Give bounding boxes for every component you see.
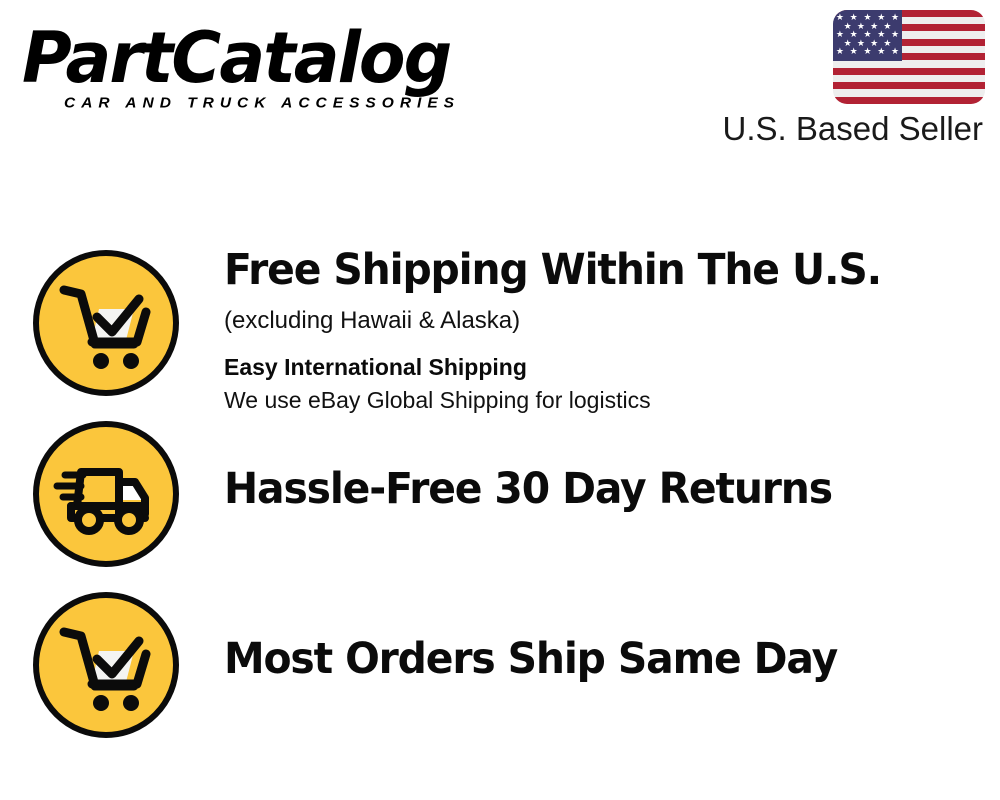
us-flag-icon: ★★★★★ ★★★★ ★★★★★ ★★★★ ★★★★★: [833, 10, 985, 104]
benefit-row-returns: Hassle-Free 30 Day Returns: [0, 420, 1000, 592]
page-header: PartCatalog CAR AND TRUCK ACCESSORIES ★★…: [0, 0, 1000, 175]
us-based-seller-block: ★★★★★ ★★★★ ★★★★★ ★★★★ ★★★★★ U.S. Based S…: [685, 10, 985, 148]
benefit-headline: Hassle-Free 30 Day Returns: [224, 465, 961, 514]
benefit-text-block: Most Orders Ship Same Day: [224, 592, 1000, 684]
benefit-row-free-shipping: Free Shipping Within The U.S. (excluding…: [0, 232, 1000, 420]
benefit-text-block: Hassle-Free 30 Day Returns: [224, 420, 1000, 514]
benefit-note: (excluding Hawaii & Alaska): [224, 305, 1000, 336]
benefit-icon-wrap: [0, 232, 224, 396]
us-based-seller-label: U.S. Based Seller: [685, 110, 985, 148]
flag-canton: ★★★★★ ★★★★ ★★★★★ ★★★★ ★★★★★: [833, 10, 902, 61]
benefit-row-same-day-ship: Most Orders Ship Same Day: [0, 592, 1000, 762]
benefit-icon-wrap: [0, 592, 224, 738]
shopping-cart-check-icon: [33, 592, 179, 738]
delivery-truck-icon: [33, 421, 179, 567]
brand-wordmark: PartCatalog: [22, 22, 478, 94]
brand-logo: PartCatalog CAR AND TRUCK ACCESSORIES: [22, 22, 492, 113]
benefit-text-block: Free Shipping Within The U.S. (excluding…: [224, 232, 1000, 415]
shopping-cart-check-icon: [33, 250, 179, 396]
benefit-headline: Most Orders Ship Same Day: [224, 635, 961, 684]
benefit-icon-wrap: [0, 420, 224, 567]
benefit-headline: Free Shipping Within The U.S.: [224, 246, 961, 295]
benefits-list: Free Shipping Within The U.S. (excluding…: [0, 232, 1000, 762]
benefit-sub-heading: Easy International Shipping: [224, 352, 1000, 382]
brand-tagline: CAR AND TRUCK ACCESSORIES: [64, 95, 492, 112]
benefit-sub-text: We use eBay Global Shipping for logistic…: [224, 385, 1000, 415]
